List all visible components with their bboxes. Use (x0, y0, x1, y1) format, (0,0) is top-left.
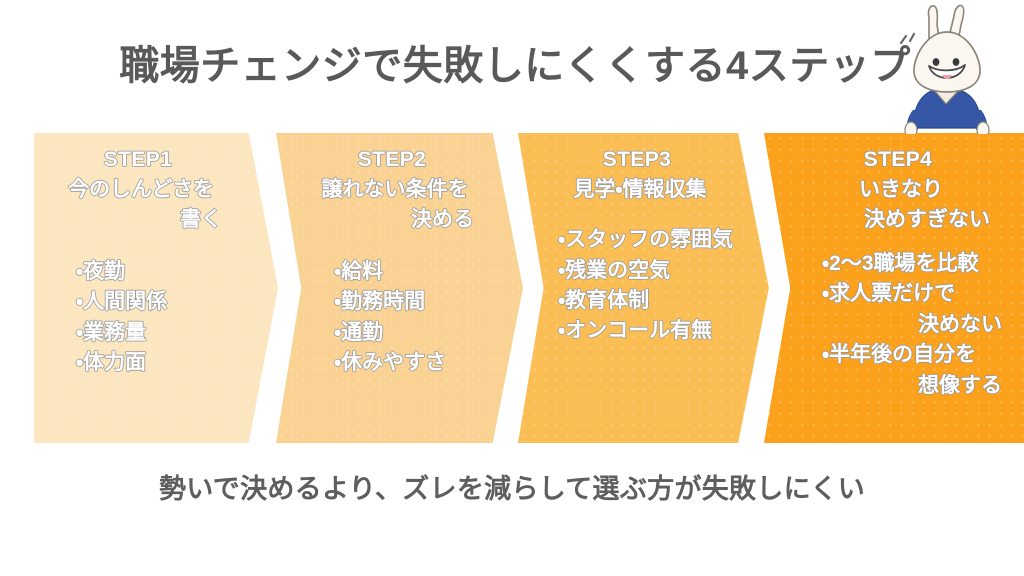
infographic-canvas: 職場チェンジで失敗しにくくする4ステップ (0, 0, 1024, 576)
step-3-heading-line-1: 見学・情報収集 (558, 175, 722, 205)
bullet-text: ・勤務時間 (334, 290, 425, 313)
list-item: ・人間関係 (72, 287, 236, 317)
bullet-text: ・教育体制 (558, 289, 649, 312)
sparkle-icon (901, 34, 914, 43)
step-4-heading: いきなり 決めすぎない (802, 175, 1004, 235)
bullet-text: ・給料 (334, 260, 383, 283)
rabbit-paw-left (905, 122, 917, 134)
list-item: ・夜勤 (72, 257, 236, 287)
step-panel-3[interactable]: STEP3 見学・情報収集 ・スタッフの雰囲気 ・残業の空気 ・教育体制 ・オン… (518, 133, 774, 443)
steps-strip: STEP1 今のしんどさを 書く ・夜勤 ・人間関係 ・業務量 ・体力面 STE… (0, 133, 1024, 443)
step-1-heading-line-1: 今のしんどさを (60, 175, 222, 205)
list-item: ・体力面 (72, 348, 236, 378)
step-4-heading-line-2: 決めすぎない (812, 205, 990, 235)
list-item: ・オンコール有無 (554, 316, 736, 346)
list-item: ・通勤 (330, 318, 488, 348)
bullet-text: ・夜勤 (76, 260, 125, 283)
bullet-text: ・体力面 (76, 351, 146, 374)
list-item: ・求人票だけで 決めない (818, 279, 1004, 340)
bullet-text-continuation: 決めない (822, 310, 1004, 340)
rabbit-head (914, 32, 980, 92)
list-item: ・残業の空気 (554, 256, 736, 286)
bullet-text: ・人間関係 (76, 290, 167, 313)
list-item: ・教育体制 (554, 286, 736, 316)
step-2-heading: 譲れない条件を 決める (306, 175, 488, 235)
step-4-heading-line-1: いきなり (812, 175, 990, 205)
step-2-content: STEP2 譲れない条件を 決める ・給料 ・勤務時間 ・通勤 ・休みやすさ (292, 147, 512, 433)
step-4-bullet-list: ・2〜3職場を比較 ・求人票だけで 決めない ・半年後の自分を 想像する (802, 249, 1004, 401)
bullet-text: ・2〜3職場を比較 (822, 252, 979, 275)
step-1-heading: 今のしんどさを 書く (50, 175, 236, 235)
rabbit-paw-right (977, 122, 989, 134)
step-panel-2[interactable]: STEP2 譲れない条件を 決める ・給料 ・勤務時間 ・通勤 ・休みやすさ (276, 133, 528, 443)
list-item: ・業務量 (72, 318, 236, 348)
step-1-label: STEP1 (50, 147, 236, 173)
bullet-text-continuation: 想像する (822, 371, 1004, 401)
list-item: ・給料 (330, 257, 488, 287)
rabbit-eye-left (933, 58, 940, 66)
list-item: ・半年後の自分を 想像する (818, 340, 1004, 401)
list-item: ・休みやすさ (330, 348, 488, 378)
bullet-text: ・求人票だけで (822, 282, 955, 305)
bullet-text: ・業務量 (76, 321, 146, 344)
step-4-label: STEP4 (802, 147, 1004, 173)
list-item: ・スタッフの雰囲気 (554, 225, 736, 255)
step-4-content: STEP4 いきなり 決めすぎない ・2〜3職場を比較 ・求人票だけで 決めない… (780, 147, 1010, 433)
bullet-text: ・オンコール有無 (558, 319, 712, 342)
step-3-bullet-list: ・スタッフの雰囲気 ・残業の空気 ・教育体制 ・オンコール有無 (548, 225, 736, 347)
bullet-text: ・休みやすさ (334, 351, 446, 374)
step-1-heading-line-2: 書く (60, 205, 222, 235)
page-title: 職場チェンジで失敗しにくくする4ステップ (119, 46, 910, 86)
step-1-content: STEP1 今のしんどさを 書く ・夜勤 ・人間関係 ・業務量 ・体力面 (50, 147, 262, 433)
step-panel-1[interactable]: STEP1 今のしんどさを 書く ・夜勤 ・人間関係 ・業務量 ・体力面 (34, 133, 278, 443)
bullet-text: ・半年後の自分を (822, 343, 976, 366)
step-3-label: STEP3 (548, 147, 736, 173)
rabbit-eye-right (953, 58, 960, 66)
step-3-heading: 見学・情報収集 (548, 175, 736, 205)
title-bar: 職場チェンジで失敗しにくくする4ステップ (0, 36, 1024, 96)
step-2-label: STEP2 (306, 147, 488, 173)
footer-bar: 勢いで決めるより、ズレを減らして選ぶ方が失敗しにくい (0, 476, 1024, 503)
step-panel-4[interactable]: STEP4 いきなり 決めすぎない ・2〜3職場を比較 ・求人票だけで 決めない… (764, 133, 1024, 443)
footer-caption: 勢いで決めるより、ズレを減らして選ぶ方が失敗しにくい (0, 476, 1024, 503)
bullet-text: ・残業の空気 (558, 259, 670, 282)
step-2-heading-line-2: 決める (316, 205, 474, 235)
list-item: ・2〜3職場を比較 (818, 249, 1004, 279)
step-2-bullet-list: ・給料 ・勤務時間 ・通勤 ・休みやすさ (306, 257, 488, 379)
rabbit-nurse-mascot-icon (884, 2, 1016, 134)
list-item: ・勤務時間 (330, 287, 488, 317)
bullet-text: ・スタッフの雰囲気 (558, 228, 733, 251)
step-3-content: STEP3 見学・情報収集 ・スタッフの雰囲気 ・残業の空気 ・教育体制 ・オン… (534, 147, 758, 433)
bullet-text: ・通勤 (334, 321, 383, 344)
step-1-bullet-list: ・夜勤 ・人間関係 ・業務量 ・体力面 (50, 257, 236, 379)
step-2-heading-line-1: 譲れない条件を (316, 175, 474, 205)
